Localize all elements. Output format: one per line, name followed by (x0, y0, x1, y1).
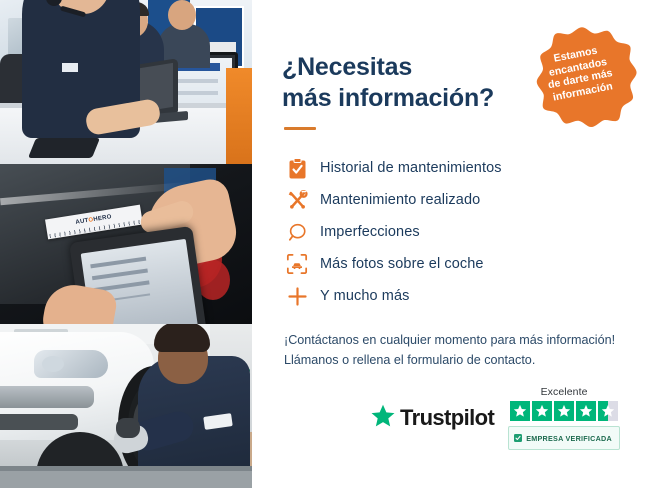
tools-icon (282, 190, 312, 211)
feature-label: Y mucho más (320, 288, 409, 304)
plus-icon (282, 286, 312, 307)
contact-text: ¡Contáctanos en cualquier momento para m… (284, 330, 636, 371)
heading-line-2: más información? (282, 84, 494, 112)
badge-text: Estamos encantados de darte más informac… (521, 38, 637, 108)
feature-label: Mantenimiento realizado (320, 192, 480, 208)
trustpilot-score-block: Excelente (508, 386, 620, 450)
star-filled (576, 401, 596, 421)
promo-badge: Estamos encantados de darte más informac… (520, 26, 644, 150)
heading-line-1: ¿Necesitas (282, 53, 412, 81)
trustpilot-star-icon (370, 403, 396, 434)
car-focus-icon (282, 253, 312, 275)
verified-label: EMPRESA VERIFICADA (526, 434, 612, 443)
list-item: Y mucho más (282, 280, 650, 312)
feature-list: Historial de mantenimientos Mantenimient… (282, 152, 650, 312)
contact-line-2: Llámanos o rellena el formulario de cont… (284, 353, 535, 367)
feature-label: Imperfecciones (320, 224, 420, 240)
star-filled (510, 401, 530, 421)
feature-label: Historial de mantenimientos (320, 160, 502, 176)
title-divider (284, 127, 316, 130)
star-half (598, 401, 618, 421)
car-inspection-ruler-tablet-photo: AUTOHERO (0, 164, 252, 324)
verified-check-icon (514, 429, 522, 447)
clipboard-check-icon (282, 158, 312, 179)
list-item: Imperfecciones (282, 216, 650, 248)
list-item: Mantenimiento realizado (282, 184, 650, 216)
trustpilot-wordmark: Trustpilot (400, 405, 494, 431)
call-center-agents-photo (0, 0, 252, 164)
list-item: Más fotos sobre el coche (282, 248, 650, 280)
feature-label: Más fotos sobre el coche (320, 256, 484, 272)
trustpilot-rating[interactable]: Trustpilot Excelente (370, 386, 620, 450)
star-rating (510, 401, 618, 421)
photo-column: AUTOHERO (0, 0, 252, 488)
mechanic-wheel-inspection-photo (0, 324, 252, 488)
contact-line-1: ¡Contáctanos en cualquier momento para m… (284, 333, 615, 347)
status-badge: EMPRESA VERIFICADA (508, 426, 620, 450)
list-item: Historial de mantenimientos (282, 152, 650, 184)
star-filled (554, 401, 574, 421)
content-column: ¿Necesitasmás información? Historial de … (252, 0, 650, 488)
information-banner: AUTOHERO (0, 0, 650, 488)
page-title: ¿Necesitasmás información? (282, 52, 512, 113)
rating-label: Excelente (541, 386, 588, 398)
magnifier-icon (282, 222, 312, 243)
trustpilot-logo: Trustpilot (370, 403, 494, 434)
star-filled (532, 401, 552, 421)
